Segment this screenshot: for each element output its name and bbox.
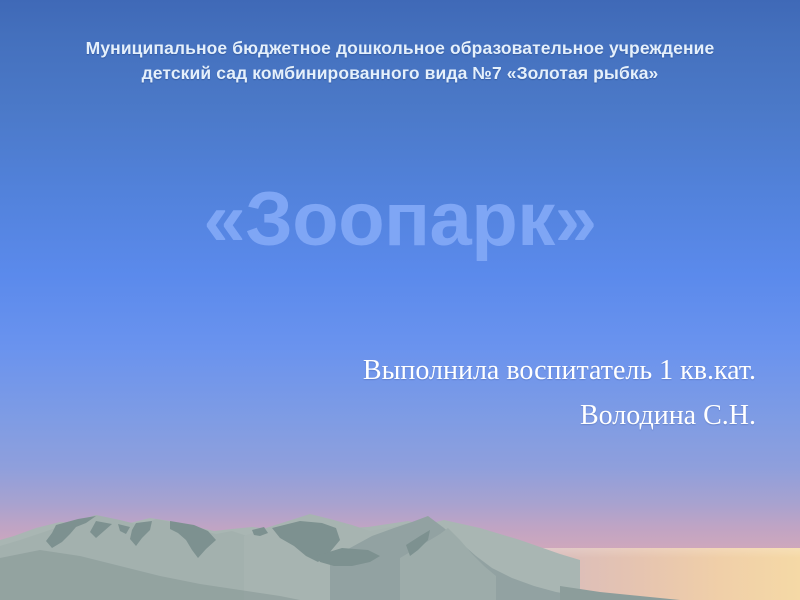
institution-header-line-2: детский сад комбинированного вида №7 «Зо…	[26, 61, 774, 86]
author-block: Выполнила воспитатель 1 кв.кат. Володина…	[40, 348, 756, 439]
author-name-line: Володина С.Н.	[40, 393, 756, 438]
institution-header: Муниципальное бюджетное дошкольное образ…	[26, 36, 774, 87]
mountain-range-illustration	[0, 0, 800, 600]
slide-title: «Зоопарк»	[0, 182, 800, 258]
institution-header-line-1: Муниципальное бюджетное дошкольное образ…	[26, 36, 774, 61]
author-role-line: Выполнила воспитатель 1 кв.кат.	[40, 348, 756, 393]
presentation-slide: Муниципальное бюджетное дошкольное образ…	[0, 0, 800, 600]
